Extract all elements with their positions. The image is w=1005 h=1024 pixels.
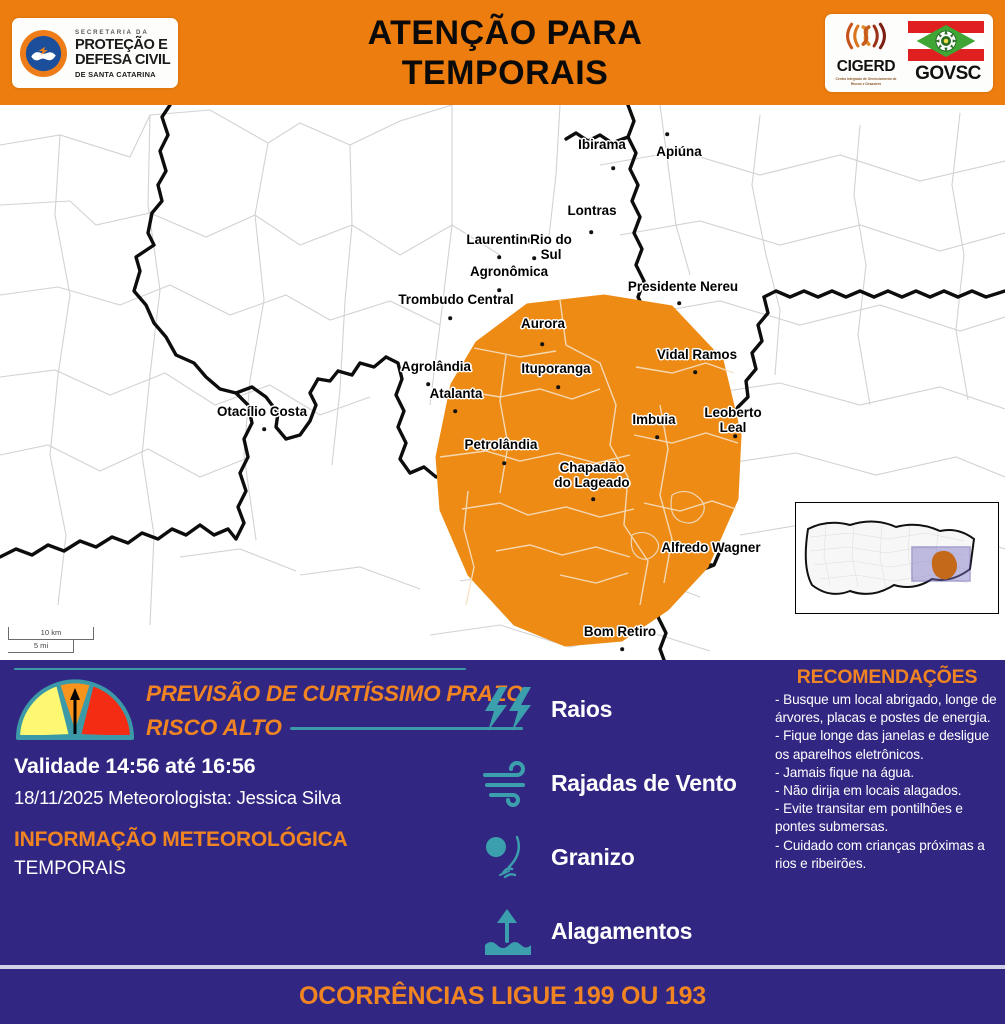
recommendation-item: - Não dirija em locais alagados. <box>775 782 999 800</box>
logo-line-defesa-civil: DEFESA CIVIL <box>75 53 170 69</box>
alert-infographic: SECRETARIA DA PROTEÇÃO E DEFESA CIVIL DE… <box>0 0 1005 1024</box>
risk-level-label: RISCO ALTO <box>146 714 282 742</box>
city-label: Agrolândia <box>401 360 471 375</box>
flood-icon <box>483 907 535 955</box>
city-label: Petrolândia <box>465 438 538 453</box>
risk-column: PREVISÃO DE CURTÍSSIMO PRAZO RISCO ALTO … <box>14 668 466 880</box>
city-dot <box>556 385 560 389</box>
city-dot <box>591 497 595 501</box>
city-label: Otacílio Costa <box>217 405 307 420</box>
risk-gauge-icon <box>14 676 136 744</box>
scale-mi-label: 5 mi <box>8 641 74 650</box>
meteorologist-text: 18/11/2025 Meteorologista: Jessica Silva <box>14 787 466 809</box>
scale-km-row: 10 km <box>8 627 94 640</box>
city-label: Vidal Ramos <box>657 348 737 363</box>
city-dot <box>589 230 593 234</box>
cigerd-waves-icon <box>839 20 893 52</box>
city-label: Ituporanga <box>521 362 590 377</box>
hazard-label: Rajadas de Vento <box>551 770 737 797</box>
scale-mi-row: 5 mi <box>8 640 94 653</box>
recommendations-list: - Busque um local abrigado, longe de árv… <box>775 691 999 873</box>
city-dot <box>532 256 536 260</box>
cigerd-logo: CIGERD Centro Integrado de Gerenciamento… <box>830 20 902 86</box>
lightning-icon <box>483 685 535 733</box>
govsc-prefix: GOV <box>915 63 955 84</box>
risk-level-row: RISCO ALTO <box>146 714 523 742</box>
city-label: Lontras <box>567 204 616 219</box>
city-label: Ibirama <box>578 138 626 153</box>
header-bar: SECRETARIA DA PROTEÇÃO E DEFESA CIVIL DE… <box>0 0 1005 105</box>
alert-map[interactable]: IbiramaApiúnaLontrasLaurentinoRio do Sul… <box>0 105 1005 660</box>
city-dot <box>540 342 544 346</box>
emergency-phone-text: OCORRÊNCIAS LIGUE 199 OU 193 <box>299 982 706 1011</box>
city-label: Presidente Nereu <box>628 280 738 295</box>
defesa-civil-logo: SECRETARIA DA PROTEÇÃO E DEFESA CIVIL DE… <box>12 18 178 88</box>
meteo-info-title: INFORMAÇÃO METEOROLÓGICA <box>14 828 466 852</box>
govsc-suffix: SC <box>956 63 981 84</box>
city-dot <box>665 132 669 136</box>
meteo-info-value: TEMPORAIS <box>14 858 466 880</box>
city-dot <box>453 409 457 413</box>
city-label: Atalanta <box>430 387 483 402</box>
city-label: Bom Retiro <box>584 625 656 640</box>
city-label: Alfredo Wagner <box>661 541 760 556</box>
inset-state-outline <box>796 503 996 611</box>
city-label: Leoberto Leal <box>704 406 761 435</box>
top-divider <box>14 668 466 670</box>
city-label: Trombudo Central <box>398 293 513 308</box>
city-dot <box>497 255 501 259</box>
hazard-label: Alagamentos <box>551 918 692 945</box>
title-line-1: ATENÇÃO PARA <box>200 13 810 53</box>
city-dot <box>262 427 266 431</box>
validity-text: Validade 14:56 até 16:56 <box>14 754 466 779</box>
santa-catarina-flag-icon <box>908 21 984 61</box>
recommendation-item: - Jamais fique na água. <box>775 764 999 782</box>
city-dot <box>611 166 615 170</box>
city-dot <box>677 301 681 305</box>
scale-km-label: 10 km <box>8 628 94 637</box>
cigerd-tagline: Centro Integrado de Gerenciamento de Ris… <box>830 77 902 86</box>
city-label: Aurora <box>521 317 565 332</box>
city-dot <box>733 434 737 438</box>
hazard-item-alagamentos[interactable]: Alagamentos <box>483 894 773 968</box>
govsc-logo: GOVSC <box>908 21 988 85</box>
wind-icon <box>483 759 535 807</box>
forecast-type-label: PREVISÃO DE CURTÍSSIMO PRAZO <box>146 680 523 708</box>
logo-line-secretaria: SECRETARIA DA <box>75 30 170 36</box>
page-title: ATENÇÃO PARA TEMPORAIS <box>200 13 810 93</box>
hazard-item-raios[interactable]: Raios <box>483 672 773 746</box>
cigerd-name: CIGERD <box>830 58 902 76</box>
recommendation-item: - Busque um local abrigado, longe de árv… <box>775 691 999 727</box>
city-label: Imbuia <box>632 413 675 428</box>
logo-line-protecao: PROTEÇÃO E <box>75 38 170 54</box>
risk-text: PREVISÃO DE CURTÍSSIMO PRAZO RISCO ALTO <box>146 676 523 742</box>
city-dot <box>448 316 452 320</box>
hazard-label: Granizo <box>551 844 635 871</box>
recommendations-column: RECOMENDAÇÕES - Busque um local abrigado… <box>775 666 999 873</box>
recommendations-title: RECOMENDAÇÕES <box>775 666 999 689</box>
hazard-item-granizo[interactable]: Granizo <box>483 820 773 894</box>
footer-bar: OCORRÊNCIAS LIGUE 199 OU 193 <box>0 969 1005 1024</box>
city-label: Agronômica <box>470 265 548 280</box>
defesa-civil-wordmark: SECRETARIA DA PROTEÇÃO E DEFESA CIVIL DE… <box>75 28 170 79</box>
city-label: Rio do Sul <box>530 233 572 262</box>
city-dot <box>709 563 713 567</box>
defesa-civil-emblem-icon <box>19 29 68 78</box>
city-label: Chapadão do Lageado <box>554 461 629 490</box>
city-dot <box>620 647 624 651</box>
government-logos: CIGERD Centro Integrado de Gerenciamento… <box>825 14 993 92</box>
logo-line-santa-catarina: DE SANTA CATARINA <box>75 71 170 78</box>
title-line-2: TEMPORAIS <box>200 53 810 93</box>
city-label: Laurentino <box>466 233 535 248</box>
hazards-column: Raios Rajadas de Vento <box>483 672 773 968</box>
recommendation-item: - Evite transitar em pontilhões e pontes… <box>775 800 999 836</box>
inset-locator-map[interactable] <box>795 502 999 614</box>
info-panel: PREVISÃO DE CURTÍSSIMO PRAZO RISCO ALTO … <box>0 660 1005 965</box>
city-label: Apiúna <box>656 145 701 160</box>
map-scale-bar: 10 km 5 mi <box>8 627 94 653</box>
city-dot <box>693 370 697 374</box>
recommendation-item: - Cuidado com crianças próximas a rios e… <box>775 837 999 873</box>
hail-icon <box>483 833 535 881</box>
hazard-label: Raios <box>551 696 612 723</box>
govsc-name: GOVSC <box>908 63 988 85</box>
city-dot <box>655 435 659 439</box>
hazard-item-rajadas-de-vento[interactable]: Rajadas de Vento <box>483 746 773 820</box>
risk-gauge-row: PREVISÃO DE CURTÍSSIMO PRAZO RISCO ALTO <box>14 676 466 744</box>
city-dot <box>502 461 506 465</box>
recommendation-item: - Fique longe das janelas e desligue os … <box>775 727 999 763</box>
